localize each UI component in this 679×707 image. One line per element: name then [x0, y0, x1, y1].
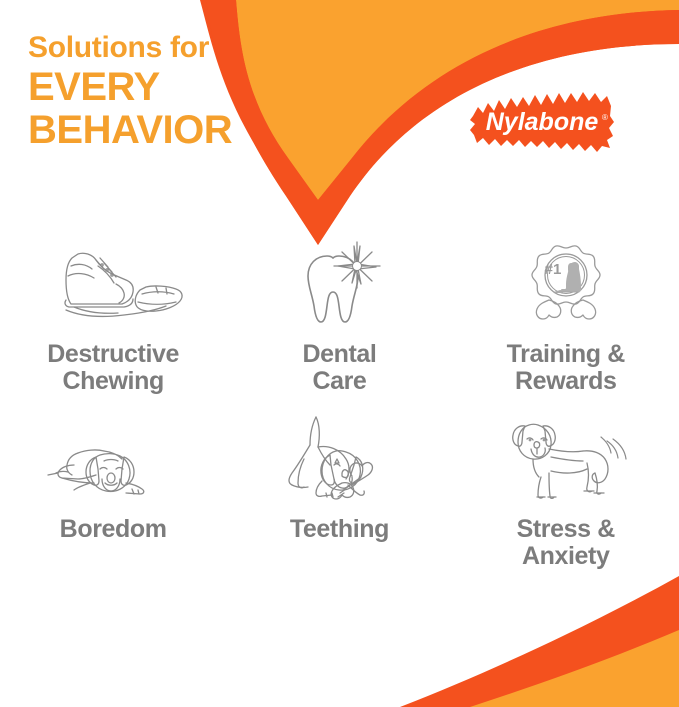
behavior-cell-boredom[interactable]: Boredom — [0, 411, 226, 570]
chewed-shoe-art — [38, 236, 188, 332]
lying-bored-dog-icon — [38, 411, 188, 507]
behavior-label: Dental Care — [302, 341, 376, 395]
rank-text: #1 — [544, 261, 561, 278]
anxious-dog-icon — [491, 411, 641, 507]
behavior-label: Teething — [290, 516, 389, 543]
behavior-label: Boredom — [60, 516, 167, 543]
behavior-cell-training-rewards[interactable]: #1 Training & Rewards — [453, 236, 679, 395]
behavior-grid: Destructive Chewing — [0, 236, 679, 570]
behavior-label: Training & Rewards — [507, 341, 625, 395]
behavior-cell-dental-care[interactable]: Dental Care — [226, 236, 452, 395]
behavior-label: Destructive Chewing — [47, 341, 179, 395]
behavior-cell-destructive-chewing[interactable]: Destructive Chewing — [0, 236, 226, 395]
nylabone-logo-text: Nylabone — [486, 108, 599, 136]
behavior-cell-stress-anxiety[interactable]: Stress & Anxiety — [453, 411, 679, 570]
nylabone-logo: Nylabone ® — [467, 86, 617, 158]
registered-trademark-mark: ® — [602, 113, 608, 122]
sparkling-tooth-icon — [264, 236, 414, 332]
behavior-row: Destructive Chewing — [0, 236, 679, 395]
behavior-cell-teething[interactable]: Teething — [226, 411, 452, 570]
behavior-row: Boredom — [0, 411, 679, 570]
lying-dog-art — [38, 411, 188, 507]
award-rosette-dog-icon: #1 — [491, 236, 641, 332]
infographic-canvas: Solutions for EVERY BEHAVIOR Nylabone ® — [0, 0, 679, 707]
title-line-3: BEHAVIOR — [28, 110, 232, 150]
chewed-shoe-icon — [38, 236, 188, 332]
anxious-dog-art — [491, 411, 641, 507]
sparkling-tooth-art — [264, 236, 414, 332]
title-line-2: EVERY — [28, 67, 232, 107]
nylabone-logo-icon: Nylabone ® — [467, 86, 617, 158]
teething-puppy-art — [264, 411, 414, 507]
page-title: Solutions for EVERY BEHAVIOR — [28, 33, 232, 150]
award-rosette-art: #1 — [491, 236, 641, 332]
behavior-label: Stress & Anxiety — [517, 516, 615, 570]
title-line-1: Solutions for — [28, 33, 232, 63]
teething-puppy-bone-icon — [264, 411, 414, 507]
